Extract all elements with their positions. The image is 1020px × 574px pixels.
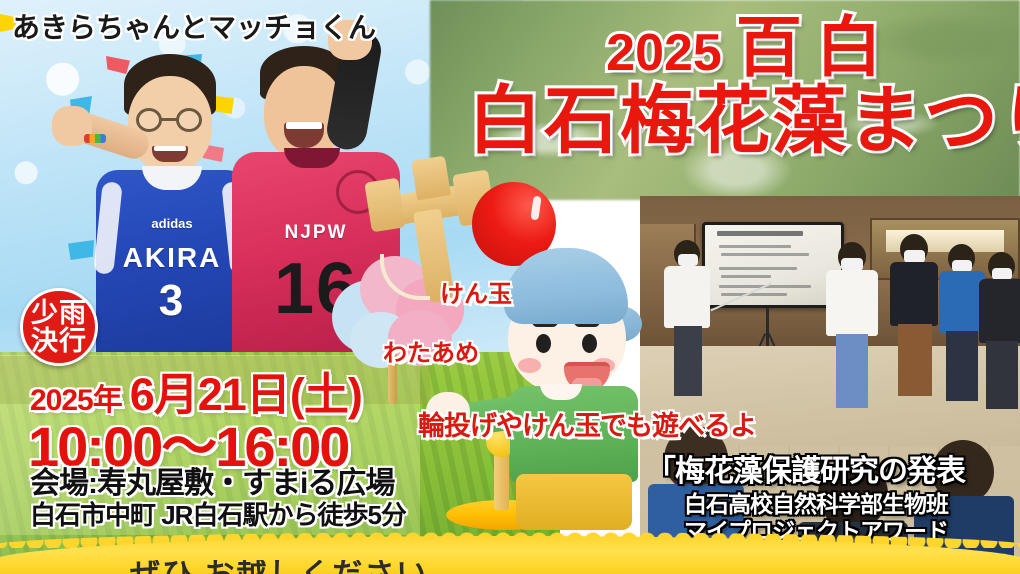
rain-badge-line1: 少雨	[31, 299, 87, 327]
callout-wataame: わたあめ	[383, 333, 479, 368]
callout-kendama: けん玉	[440, 274, 512, 309]
rain-badge-line2: 決行	[31, 327, 87, 355]
slide-line	[721, 253, 809, 256]
event-access: 白石市中町 JR白石駅から徒歩5分	[30, 495, 406, 532]
performer-right-teeth	[286, 122, 322, 129]
research-heading: 「梅花藻保護研究の発表	[646, 446, 1020, 490]
rain-policy-badge: 少雨 決行	[20, 288, 98, 366]
duo-name-label: あきらちゃんとマッチョくん	[12, 6, 376, 46]
event-poster: adidas AKIRA 3 NJPW 16 あきらちゃんとマッチョくん	[0, 0, 1020, 574]
boy-eye	[582, 334, 597, 353]
jersey-name-akira: AKIRA	[96, 242, 248, 274]
kendama-spike	[411, 156, 451, 201]
title-year: 2025	[606, 24, 722, 82]
projector-screen	[702, 222, 844, 308]
bottom-banner-text-clipped: ぜひ お越しください	[0, 560, 560, 574]
jersey-number-3: 3	[96, 276, 248, 326]
title-kanji-accent: 百白	[736, 10, 896, 84]
title-line-year: 2025百白	[468, 14, 1020, 80]
boy-cap	[504, 248, 628, 324]
performer-left-teeth	[154, 146, 186, 151]
jersey-brand-adidas: adidas	[96, 216, 248, 231]
performer-left-jersey: adidas AKIRA 3	[96, 170, 248, 360]
boy-cheek	[518, 358, 541, 373]
callout-play-activities: 輪投げやけん玉でも遊べるよ	[418, 404, 756, 443]
slide-line	[719, 245, 791, 248]
slide-line	[719, 267, 797, 270]
performer-left-glasses	[134, 108, 208, 134]
slide-line	[721, 275, 771, 278]
bottom-banner-text: ぜひ お越しください	[0, 560, 560, 574]
rainbow-wristband	[84, 134, 106, 143]
research-line-1: 白石高校自然科学部生物班	[646, 491, 1020, 518]
slide-line	[721, 293, 787, 296]
title-main: 白石梅花藻まつり	[468, 84, 1020, 158]
slide-title-bar	[717, 231, 803, 236]
boy-eye	[536, 334, 551, 353]
kendama-string	[380, 254, 430, 300]
kendama-cup-left	[364, 178, 405, 233]
ball-highlight	[530, 196, 541, 221]
poster-title: 2025百白 白石梅花藻まつり	[468, 14, 1020, 189]
boy-shorts	[516, 474, 632, 530]
